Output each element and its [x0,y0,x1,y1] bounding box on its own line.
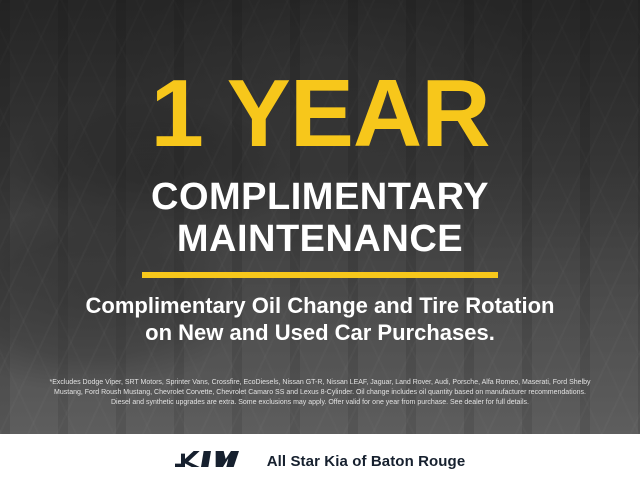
headline-complimentary: COMPLIMENTARY [0,177,640,217]
offer-text-line-1: Complimentary Oil Change and Tire Rotati… [0,293,640,319]
hero-content: 1 YEAR COMPLIMENTARY MAINTENANCE Complim… [0,0,640,434]
headline-year: 1 YEAR [0,66,640,162]
disclaimer-text: *Excludes Dodge Viper, SRT Motors, Sprin… [12,378,628,408]
promo-banner: 1 YEAR COMPLIMENTARY MAINTENANCE Complim… [0,0,640,488]
dealer-name: All Star Kia of Baton Rouge [267,453,466,470]
disclaimer-line-1: *Excludes Dodge Viper, SRT Motors, Sprin… [12,378,628,388]
offer-text-line-2: on New and Used Car Purchases. [0,320,640,346]
disclaimer-line-2: Mustang, Ford Roush Mustang, Chevrolet C… [12,388,628,398]
disclaimer-line-3: Diesel and synthetic upgrades are extra.… [12,398,628,408]
footer-bar: All Star Kia of Baton Rouge [0,434,640,488]
yellow-divider [142,272,498,278]
kia-logo-icon [175,449,249,474]
headline-maintenance: MAINTENANCE [0,219,640,259]
footer-brand-lockup: All Star Kia of Baton Rouge [175,449,466,474]
hero-section: 1 YEAR COMPLIMENTARY MAINTENANCE Complim… [0,0,640,434]
